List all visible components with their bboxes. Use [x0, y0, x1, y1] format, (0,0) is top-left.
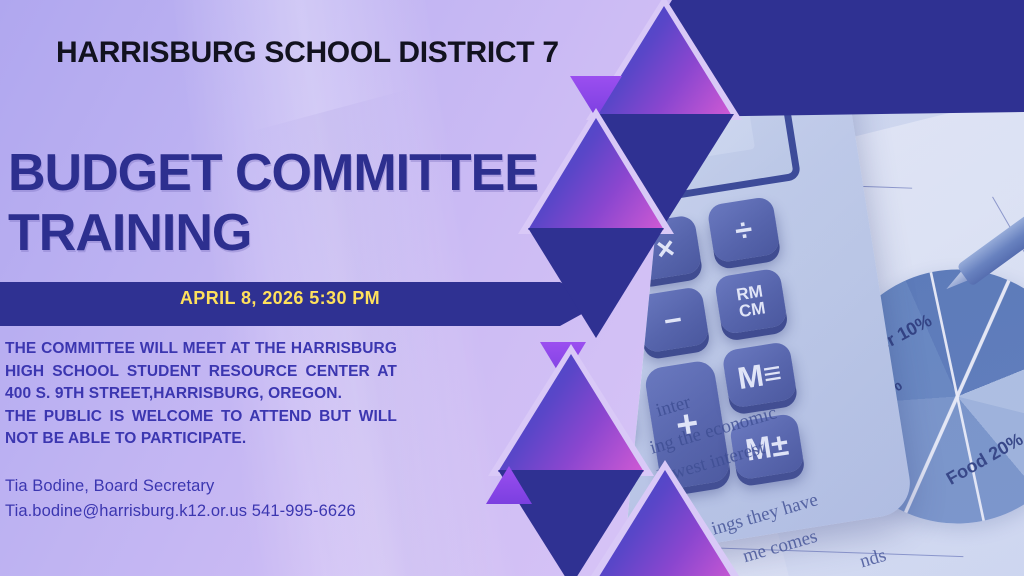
calculator-key-minus: − [636, 286, 710, 354]
description-line-5: NOT BE ABLE TO PARTICIPATE. [5, 428, 397, 451]
event-description: THE COMMITTEE WILL MEET AT THE HARRISBUR… [5, 338, 397, 451]
description-line-3: 400 S. 9TH STREET,HARRISBURG, OREGON. [5, 383, 397, 406]
contact-block: Tia Bodine, Board Secretary Tia.bodine@h… [5, 474, 425, 524]
contact-email-phone[interactable]: Tia.bodine@harrisburg.k12.or.us 541-995-… [5, 499, 425, 524]
event-datetime: APRIL 8, 2026 5:30 PM [0, 288, 560, 309]
page-title-line-1: BUDGET COMMITTEE [8, 143, 538, 203]
calculator-key-divide: ÷ [706, 196, 780, 264]
calculator-key-memory-equals: M≡ [721, 341, 797, 409]
calculator-key-recall-clear-memory: RMCM [714, 268, 788, 336]
page-title-line-2: TRAINING [8, 203, 251, 263]
district-name: HARRISBURG SCHOOL DISTRICT 7 [56, 36, 559, 70]
triangle-gradient-up-3 [498, 354, 644, 472]
flyer-canvas: Budget Other 10% Car 10% Food 20% 3 × ÷ … [0, 0, 1024, 576]
contact-name-role: Tia Bodine, Board Secretary [5, 474, 425, 499]
description-line-2: HIGH SCHOOL STUDENT RESOURCE CENTER AT [5, 361, 397, 384]
description-line-4: THE PUBLIC IS WELCOME TO ATTEND BUT WILL [5, 406, 397, 429]
description-line-1: THE COMMITTEE WILL MEET AT THE HARRISBUR… [5, 338, 397, 361]
